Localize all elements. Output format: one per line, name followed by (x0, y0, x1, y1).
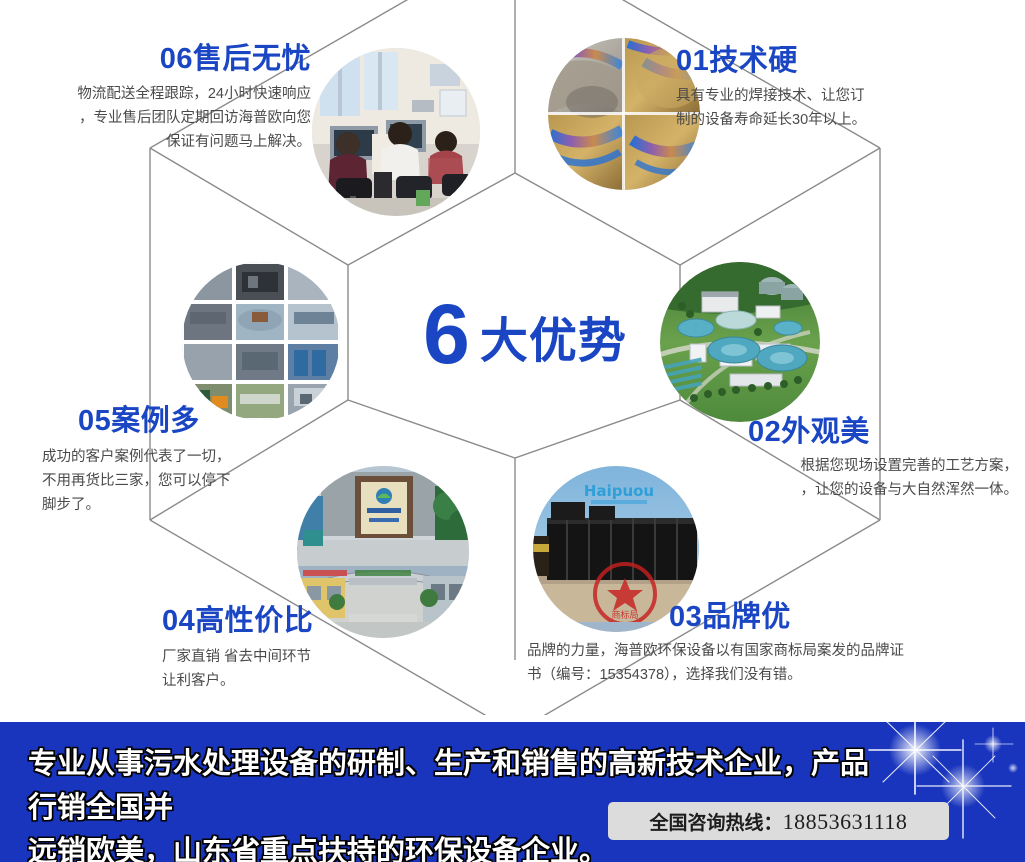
footer-banner: 专业从事污水处理设备的研制、生产和销售的高新技术企业，产品行销全国并 远销欧美，… (0, 722, 1025, 862)
case-collage-photo-art (182, 262, 340, 420)
hotline-label: 全国咨询热线： (650, 813, 783, 834)
feature-01-number: 01 (676, 45, 709, 77)
feature-04: 04高性价比 厂家直销 省去中间环节 让利客户。 (126, 606, 426, 694)
hotline-box[interactable]: 全国咨询热线：18853631118 (608, 802, 949, 840)
feature-03-label: 品牌优 (702, 601, 791, 633)
feature-04-desc: 厂家直销 省去中间环节 让利客户。 (162, 646, 426, 694)
feature-02: 02外观美 根据您现场设置完善的工艺方案， ，让您的设备与大自然浑然一体。 (690, 417, 1018, 503)
feature-01-title: 01技术硬 (676, 46, 1006, 76)
feature-04-label: 高性价比 (195, 605, 313, 637)
office-staff-photo (312, 48, 480, 216)
feature-04-number: 04 (162, 605, 195, 637)
feature-05-label: 案例多 (111, 405, 200, 437)
feature-06-desc: 物流配送全程跟踪，24小时快速响应 ，专业售后团队定期回访海普欧向您 保证有问题… (6, 83, 311, 155)
feature-02-number: 02 (748, 416, 781, 448)
feature-04-title: 04高性价比 (162, 606, 426, 636)
feature-02-title: 02外观美 (748, 417, 1018, 447)
feature-06-label: 售后无忧 (193, 43, 311, 75)
feature-05-number: 05 (78, 405, 111, 437)
aerial-treatment-plant-photo (660, 262, 820, 422)
center-headline: 6大优势 (395, 292, 655, 376)
feature-06-title: 06售后无忧 (6, 44, 311, 74)
office-staff-photo-art (312, 48, 480, 216)
feature-01-label: 技术硬 (709, 45, 798, 77)
hotline-number: 18853631118 (783, 809, 908, 834)
feature-06-number: 06 (160, 43, 193, 75)
feature-02-label: 外观美 (781, 416, 870, 448)
feature-02-desc: 根据您现场设置完善的工艺方案， ，让您的设备与大自然浑然一体。 (690, 455, 1018, 503)
feature-03-number: 03 (669, 601, 702, 633)
feature-05-desc: 成功的客户案例代表了一切， 不用再货比三家，您可以停下 脚步了。 (42, 446, 342, 518)
infographic-canvas: 06售后无忧 物流配送全程跟踪，24小时快速响应 ，专业售后团队定期回访海普欧向… (0, 0, 1025, 862)
center-number: 6 (423, 287, 470, 381)
aerial-treatment-plant-photo-art (660, 262, 820, 422)
feature-05: 05案例多 成功的客户案例代表了一切， 不用再货比三家，您可以停下 脚步了。 (42, 406, 342, 518)
feature-05-title: 05案例多 (78, 406, 342, 436)
feature-01-desc: 具有专业的焊接技术、让您订 制的设备寿命延长30年以上。 (676, 85, 1006, 133)
hotline-text: 全国咨询热线：18853631118 (650, 808, 908, 835)
center-label-text: 大优势 (480, 315, 627, 368)
feature-03-title: 03品牌优 (669, 602, 1025, 632)
feature-01: 01技术硬 具有专业的焊接技术、让您订 制的设备寿命延长30年以上。 (676, 46, 1006, 133)
case-collage-photo (182, 262, 340, 420)
feature-03: 03品牌优 品牌的力量，海普欧环保设备以有国家商标局案发的品牌证 书（编号：15… (527, 602, 1025, 688)
photo-watermark-text: Haipuou (584, 482, 654, 500)
feature-03-desc: 品牌的力量，海普欧环保设备以有国家商标局案发的品牌证 书（编号：15354378… (527, 640, 1025, 688)
feature-06: 06售后无忧 物流配送全程跟踪，24小时快速响应 ，专业售后团队定期回访海普欧向… (6, 44, 311, 155)
